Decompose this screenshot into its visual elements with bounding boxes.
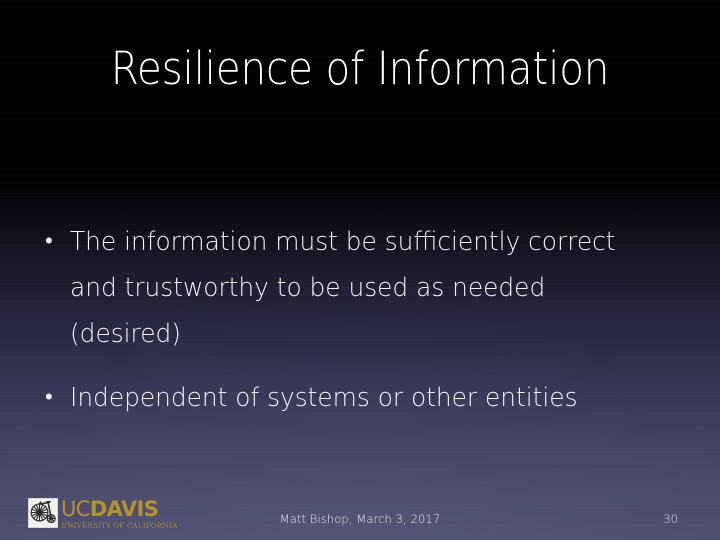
bullet-point-icon: •	[38, 375, 70, 421]
bullet-text: Independent of systems or other entities	[70, 375, 651, 421]
bullet-text: The information must be sufficiently cor…	[70, 219, 651, 357]
bullet-list: • The information must be sufficiently c…	[38, 219, 678, 421]
list-item: • Independent of systems or other entiti…	[38, 375, 678, 421]
page-number: 30	[663, 512, 678, 526]
bullet-point-icon: •	[38, 219, 70, 265]
slide: Resilience of Information • The informat…	[0, 0, 720, 540]
list-item: • The information must be sufficiently c…	[38, 219, 678, 357]
page-title: Resilience of Information	[36, 42, 684, 96]
footer-attribution: Matt Bishop, March 3, 2017	[0, 512, 720, 526]
